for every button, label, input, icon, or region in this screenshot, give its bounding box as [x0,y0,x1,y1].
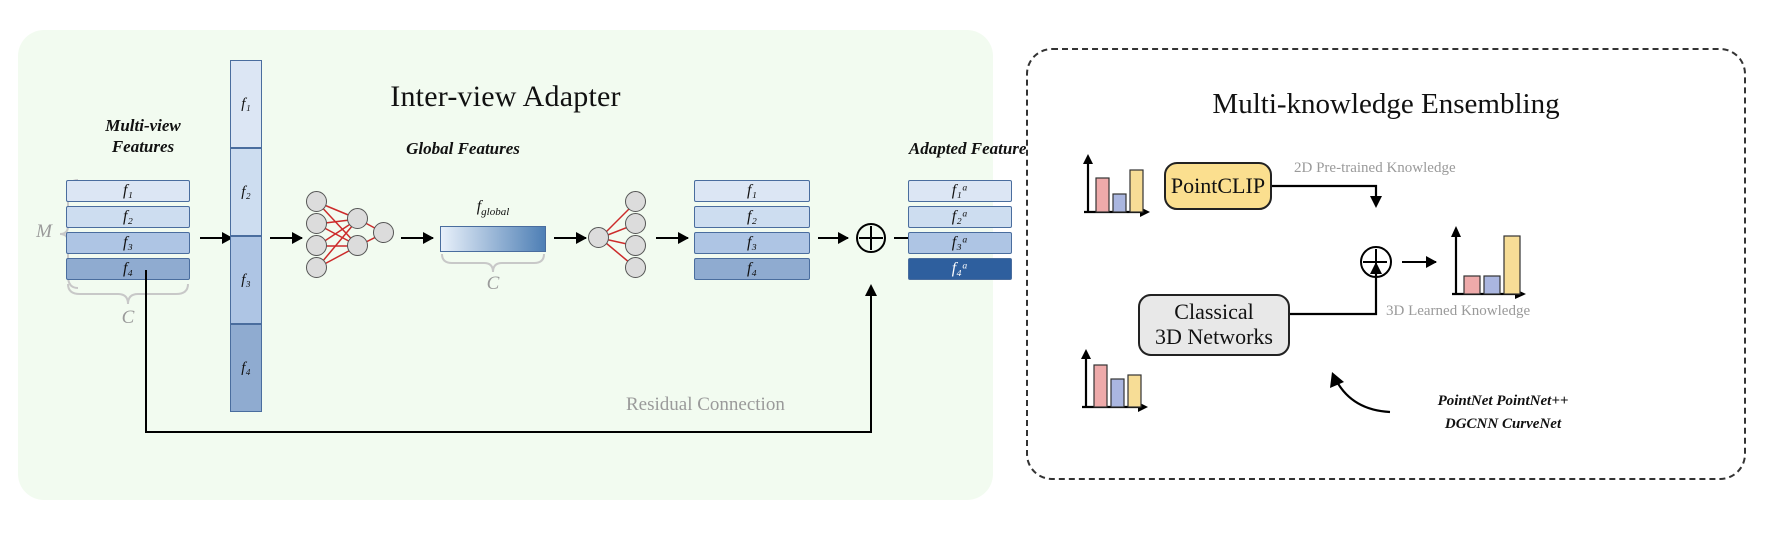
multiview-feature-box-3: f₃ [66,232,190,254]
classical-3d-input-histogram-icon [1076,345,1154,417]
feature-label: f₃ [747,234,757,252]
annotation-curved-arrow-icon [1290,350,1402,422]
adapted-feature-box-3: f₃ᵃ [908,232,1012,254]
pointclip-box[interactable]: PointCLIP [1164,162,1272,210]
arrow-sum-to-output-icon [1402,261,1436,263]
adapted-feature-box-1: f₁ᵃ [908,180,1012,202]
global-feature-symbol: fglobal [438,198,548,218]
concat-cell-1: f₁ [230,60,262,148]
page-title-inter-view-adapter: Inter-view Adapter [18,80,993,114]
ensembling-add-operator-icon [1360,246,1392,278]
mlp-node-in-1 [306,191,327,212]
feature-label: f₃ [123,234,133,252]
network-names-line2: DGCNN CurveNet [1388,413,1618,436]
mid-feature-box-3: f₃ [694,232,810,254]
multiview-features-label: Multi-view Features [58,115,228,158]
mid-feature-box-2: f₂ [694,206,810,228]
feature-label: f₂ [747,208,757,226]
page-title-multi-knowledge-ensembling: Multi-knowledge Ensembling [1028,88,1744,121]
feature-label: f₂ [123,208,133,226]
arrow-mid-to-sum-icon [818,237,848,239]
classical-label-line1: Classical [1174,300,1253,325]
decoder-node-out-1 [625,191,646,212]
pointclip-label: PointCLIP [1171,174,1265,199]
multiview-feature-box-2: f₂ [66,206,190,228]
feature-label: f₁ [241,96,250,113]
feature-label: f₂ᵃ [952,208,968,226]
pointclip-input-histogram-icon [1078,150,1156,222]
network-names-line1: PointNet PointNet++ [1388,390,1618,413]
mlp-node-in-2 [306,213,327,234]
feature-label: f₂ [241,184,250,201]
feature-label: f₁ [747,182,757,200]
mlp-node-out-1 [373,222,394,243]
feature-label: f₁ᵃ [952,182,968,200]
feature-label: f₃ᵃ [952,234,968,252]
residual-connection-path-icon [136,270,881,445]
adapted-feature-box-2: f₂ᵃ [908,206,1012,228]
classical-3d-networks-box[interactable]: Classical 3D Networks [1138,294,1290,356]
mlp-node-hidden-2 [347,235,368,256]
edge-label-2d-pretrained-knowledge: 2D Pre-trained Knowledge [1294,160,1456,177]
inter-view-adapter-panel: Inter-view Adapter Multi-view Features M… [18,30,993,500]
network-names-annotation: PointNet PointNet++ DGCNN CurveNet [1388,390,1618,437]
global-features-label: Global Features [373,138,553,159]
multi-knowledge-ensembling-panel: Multi-knowledge Ensembling PointCLIP 2D … [1026,48,1746,480]
feature-label: f₁ [123,182,133,200]
global-feature-bar [440,226,546,252]
mlp-node-hidden-1 [347,208,368,229]
multiview-feature-box-1: f₁ [66,180,190,202]
arrow-decoder-to-mid-icon [656,237,688,239]
decoder-node-out-3 [625,235,646,256]
feature-label: f₄ᵃ [952,260,968,278]
feature-label: f₄ [123,260,133,278]
arrow-multiview-to-concat-icon [200,237,232,239]
arrow-global-to-decoder-icon [554,237,586,239]
residual-connection-label: Residual Connection [626,394,785,416]
decoder-node-out-2 [625,213,646,234]
decoder-node-in [588,227,609,248]
arrow-concat-to-mlp-icon [270,237,302,239]
concat-cell-2: f₂ [230,148,262,236]
arrow-mlp-to-global-icon [401,237,433,239]
mid-feature-box-1: f₁ [694,180,810,202]
classical-label-line2: 3D Networks [1155,325,1273,350]
residual-add-operator-icon [856,223,886,253]
ensembled-output-histogram-icon [1444,218,1534,308]
adapted-feature-box-4: f₄ᵃ [908,258,1012,280]
mlp-node-in-3 [306,235,327,256]
dimension-label-m: M [32,220,56,244]
